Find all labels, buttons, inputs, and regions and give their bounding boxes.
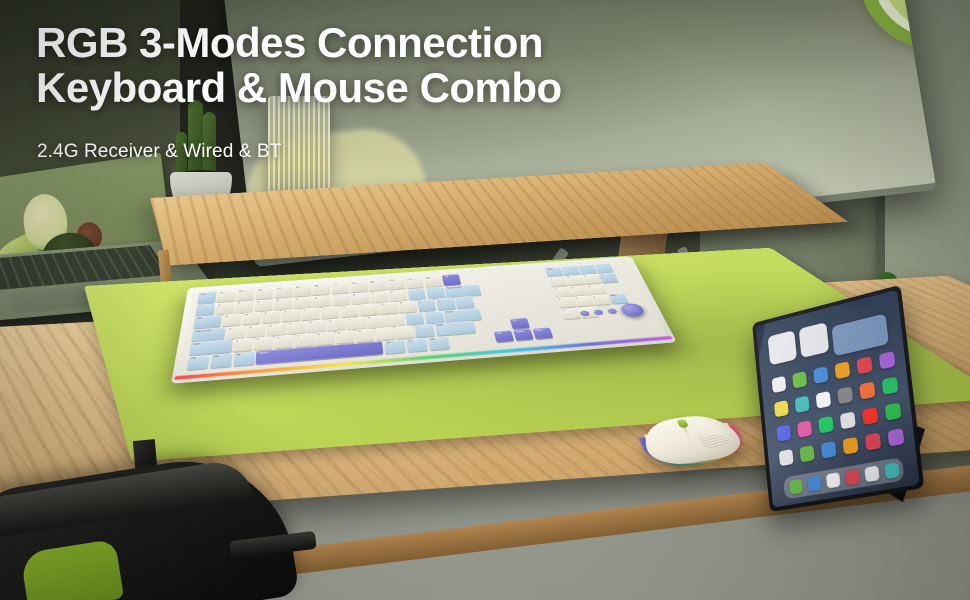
keycap-label: E <box>265 312 267 315</box>
keycap-label: Tab <box>197 317 202 320</box>
keycap-label: ' <box>426 312 427 314</box>
keycap-label: Alt <box>386 341 390 344</box>
key-down[interactable]: Down <box>513 329 534 341</box>
keycap-label: J <box>349 318 351 321</box>
keycap-label: Q <box>225 315 228 318</box>
key-x[interactable]: X <box>254 336 273 350</box>
key-c[interactable]: C <box>274 335 293 349</box>
key-left[interactable]: Left <box>494 331 514 343</box>
key-h[interactable]: H <box>327 318 346 331</box>
key-f12[interactable]: F12 <box>424 275 443 287</box>
key-back-space[interactable]: Back Space <box>444 284 481 297</box>
keycap-label: 8 <box>567 277 569 279</box>
key-6[interactable]: 6 <box>313 295 331 307</box>
key-f2[interactable]: F2 <box>236 289 254 301</box>
keycap-label: , <box>377 329 378 332</box>
keycap-label: Up <box>512 319 517 322</box>
key-ctrl[interactable]: Ctrl <box>187 355 210 370</box>
key-[interactable]: ] <box>436 298 456 310</box>
key-1[interactable]: 1 <box>215 302 234 315</box>
key-enter[interactable]: Enter <box>608 293 629 304</box>
key-num[interactable]: Num <box>544 267 563 277</box>
key-[interactable]: ; <box>405 312 425 325</box>
keycap-label: 7 <box>334 295 336 297</box>
keycap-label: Left <box>496 332 502 335</box>
keycap-label: 3 <box>593 296 596 298</box>
keycap-label: - <box>596 265 598 267</box>
keycap-label: 0 <box>562 309 565 312</box>
keycap-label: F2 <box>239 290 243 293</box>
key-[interactable]: [ <box>417 299 437 311</box>
key-[interactable]: + <box>598 273 618 283</box>
key-n[interactable]: N <box>335 330 354 344</box>
keycap-label: 5 <box>571 287 574 289</box>
key-d[interactable]: D <box>267 323 286 336</box>
key-b[interactable]: B <box>315 332 334 346</box>
keycap-label: Ctrl <box>430 338 435 341</box>
keycap-label: F10 <box>389 279 394 282</box>
keycap-label: - <box>409 289 410 291</box>
keycap-label: . <box>397 327 398 330</box>
key-k[interactable]: K <box>366 315 385 328</box>
key-f6[interactable]: F6 <box>313 283 331 295</box>
keycap-label: B <box>317 333 319 336</box>
keycap-label: = <box>428 288 430 290</box>
keycap-label: Fn <box>408 340 412 343</box>
tablet-app-icon[interactable] <box>882 376 899 395</box>
keycap-label: A <box>229 327 231 330</box>
key-up[interactable]: Up <box>510 318 530 329</box>
headline-line-2: Keyboard & Mouse Combo <box>36 65 716 110</box>
keycap-label: M <box>358 330 361 333</box>
keycap-label: 2 <box>575 297 578 299</box>
key-e[interactable]: E <box>262 310 281 323</box>
keycap-label: S <box>249 326 251 329</box>
key-7[interactable]: 7 <box>332 293 350 305</box>
tablet-app-icon[interactable] <box>865 433 882 451</box>
keycap-label: F7 <box>333 283 337 285</box>
keycap-label: T <box>304 309 306 312</box>
keycap-label: F8 <box>352 282 356 284</box>
keycap-label: L <box>388 315 390 318</box>
key-[interactable]: / <box>415 324 435 337</box>
keycap-label: 4 <box>554 288 556 290</box>
key-tab[interactable]: Tab <box>193 315 221 329</box>
keycap-label: ] <box>438 299 439 301</box>
keycap-label: Space <box>259 351 268 354</box>
key-t[interactable]: T <box>302 308 320 321</box>
keycap-label: 8 <box>353 294 355 296</box>
key-[interactable]: ~ <box>195 303 215 316</box>
keycap-label: V <box>297 335 299 338</box>
key-f4[interactable]: F4 <box>275 286 293 298</box>
key-win[interactable]: Win <box>210 353 233 368</box>
keycap-label: 6 <box>315 296 317 298</box>
keycap-label: Down <box>515 330 524 333</box>
key-alt[interactable]: Alt <box>233 351 255 366</box>
keycap-label: U <box>343 306 345 309</box>
keycap-label: 9 <box>372 292 374 294</box>
key-o[interactable]: O <box>379 302 398 315</box>
key-ctrl[interactable]: Ctrl <box>427 336 449 350</box>
key-2[interactable]: 2 <box>235 300 254 313</box>
cactus-arm <box>188 100 203 178</box>
key-a[interactable]: A <box>226 326 246 339</box>
key-[interactable]: \ <box>455 296 475 308</box>
keycap-label: F5 <box>296 286 300 288</box>
key-g[interactable]: G <box>307 320 325 333</box>
keycap-label: F11 <box>407 278 412 281</box>
keycap-label: X <box>256 338 258 341</box>
keycap-label: P <box>400 302 402 304</box>
key-esc[interactable]: Esc <box>197 291 216 303</box>
keycap-label: 6 <box>588 285 591 287</box>
keycap-label: G <box>309 321 312 324</box>
tablet-screen[interactable] <box>756 290 920 508</box>
key-[interactable]: = <box>426 287 445 299</box>
key-s[interactable]: S <box>246 324 265 337</box>
product-banner: Summer Fresh <box>0 0 970 600</box>
key-p[interactable]: P <box>398 300 417 313</box>
keycap-label: [ <box>419 301 420 303</box>
key-l[interactable]: L <box>386 314 405 327</box>
keycap-label: \ <box>457 298 458 300</box>
keycap-label: C <box>277 337 279 340</box>
keycap-label: Ctrl <box>191 357 196 360</box>
key-enter[interactable]: Enter <box>443 308 482 322</box>
tablet-dock-icon[interactable] <box>864 465 879 482</box>
keycap-label: 2 <box>238 302 240 304</box>
keycap-label: F1 <box>220 292 224 295</box>
tablet-app-icon[interactable] <box>888 428 905 446</box>
key-y[interactable]: Y <box>321 306 339 319</box>
tablet-app-icon[interactable] <box>879 351 896 370</box>
keycap-label: F6 <box>315 285 319 287</box>
keycap-label: / <box>563 267 565 269</box>
key-f1[interactable]: F1 <box>217 290 236 302</box>
keycap-label: Num <box>546 268 553 271</box>
keycap-label: W <box>245 313 248 316</box>
tablet-device[interactable] <box>752 285 924 512</box>
keycap-label: 7 <box>550 278 552 280</box>
key-f10[interactable]: F10 <box>387 278 405 290</box>
key-r[interactable]: R <box>282 309 300 322</box>
keycap-label: ~ <box>199 305 201 307</box>
key-i[interactable]: I <box>360 303 379 316</box>
key-alt[interactable]: Alt <box>384 340 406 354</box>
keycap-label: Right <box>535 329 543 332</box>
key-f8[interactable]: F8 <box>350 281 368 293</box>
tablet-app-icon[interactable] <box>862 407 878 425</box>
key-fn[interactable]: Fn <box>406 338 428 352</box>
key-[interactable]: - <box>407 288 426 300</box>
keycap-label: R <box>284 311 286 314</box>
keycap-label: 1 <box>558 298 561 300</box>
key-z[interactable]: Z <box>233 338 253 352</box>
tablet-app-icon[interactable] <box>885 402 902 420</box>
key-4[interactable]: 4 <box>552 286 572 297</box>
key-right[interactable]: Right <box>532 328 553 340</box>
keycap-label: 0 <box>390 291 392 293</box>
key-j[interactable]: J <box>346 317 365 330</box>
key-f11[interactable]: F11 <box>405 277 424 289</box>
keycap-label: Shift <box>193 343 200 346</box>
key-f[interactable]: F <box>287 321 305 334</box>
keycap-label: Caps Lock <box>195 329 210 333</box>
key-f5[interactable]: F5 <box>294 285 311 297</box>
key-0[interactable]: 0 <box>560 307 580 318</box>
key-f7[interactable]: F7 <box>331 282 349 294</box>
headline-line-1: RGB 3-Modes Connection <box>36 19 543 66</box>
key-[interactable]: , <box>375 327 395 341</box>
keycap-label: Z <box>236 340 238 343</box>
key-0[interactable]: 0 <box>388 289 407 301</box>
keycap-label: D <box>269 324 271 327</box>
keycap-label: . <box>580 308 582 310</box>
key-w[interactable]: W <box>242 312 261 325</box>
keycap-label: Enter <box>610 294 618 297</box>
keycap-label: F4 <box>277 287 281 289</box>
keycap-label: F12 <box>426 277 431 280</box>
keycap-label: F9 <box>370 281 374 283</box>
keycap-label: 9 <box>584 275 587 277</box>
key-[interactable]: - <box>594 263 613 273</box>
keycap-label: K <box>368 317 370 320</box>
key-9[interactable]: 9 <box>370 291 389 303</box>
key-[interactable]: . <box>395 326 415 339</box>
key-v[interactable]: V <box>295 333 314 347</box>
keycap-label: 5 <box>296 298 298 300</box>
keycap-label: O <box>381 303 384 306</box>
key-6[interactable]: 6 <box>586 284 606 295</box>
keycap-label: * <box>580 266 582 268</box>
keycap-label: / <box>417 326 418 329</box>
keycap-label: I <box>362 305 363 307</box>
key-3[interactable]: 3 <box>255 299 273 311</box>
keycap-label: ; <box>407 314 408 316</box>
keycap-label: Esc <box>201 293 206 296</box>
key-4[interactable]: 4 <box>274 298 292 310</box>
keycap-label: 1 <box>218 303 220 305</box>
key-1[interactable]: 1 <box>556 297 576 308</box>
keycap-label: F3 <box>258 289 262 291</box>
key-u[interactable]: U <box>340 305 359 318</box>
keycap-label: Back Space <box>446 286 462 289</box>
key-5[interactable]: 5 <box>294 296 312 308</box>
key-f3[interactable]: F3 <box>255 287 273 299</box>
keycap-label: N <box>338 332 340 335</box>
keycap-label: 4 <box>276 299 278 301</box>
keycap-label: Y <box>323 308 325 311</box>
keycap-label: H <box>329 320 331 323</box>
tablet-dock-icon[interactable] <box>884 462 900 479</box>
keycap-label: 3 <box>257 301 259 303</box>
key-del[interactable]: Del <box>442 274 461 286</box>
keycap-label: F <box>289 323 291 326</box>
key-7[interactable]: 7 <box>548 276 567 286</box>
keycap-label: + <box>601 274 604 276</box>
keycap-label: Shift <box>437 324 443 327</box>
key-shift[interactable]: Shift <box>434 321 476 336</box>
key-m[interactable]: M <box>355 329 374 343</box>
keycap-label: Alt <box>236 353 240 356</box>
key-f9[interactable]: F9 <box>368 279 386 291</box>
page-title: RGB 3-Modes Connection Keyboard & Mouse … <box>36 20 716 111</box>
keycap-label: Enter <box>446 310 454 313</box>
keycap-label: Win <box>213 355 219 358</box>
key-[interactable]: ' <box>424 311 444 324</box>
key-8[interactable]: 8 <box>351 292 369 304</box>
key-q[interactable]: Q <box>222 313 241 326</box>
keycap-label: Del <box>444 275 449 277</box>
subtitle: 2.4G Receiver & Wired & BT <box>37 141 281 163</box>
